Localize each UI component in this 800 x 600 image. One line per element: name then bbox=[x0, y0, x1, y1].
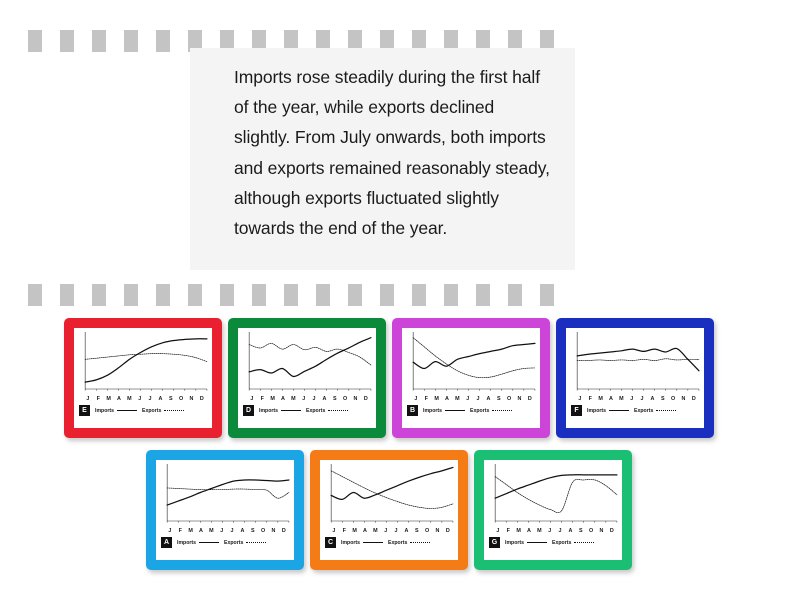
chart-axes bbox=[413, 332, 535, 389]
series-imports bbox=[495, 475, 617, 498]
legend-item-imports: Imports bbox=[505, 540, 547, 546]
month-label: N bbox=[189, 396, 195, 402]
filmstrip-sprocket bbox=[380, 284, 394, 306]
month-label: D bbox=[199, 396, 205, 402]
legend-label-exports: Exports bbox=[142, 408, 161, 414]
series-exports bbox=[495, 477, 617, 513]
month-label: O bbox=[424, 528, 430, 534]
series-exports bbox=[331, 471, 453, 509]
card-letter-badge: C bbox=[325, 537, 336, 548]
filmstrip-sprocket bbox=[348, 284, 362, 306]
card-inner-panel: JFMAMJJASONDAImportsExports bbox=[156, 460, 294, 560]
card-inner-panel: JFMAMJJASONDDImportsExports bbox=[238, 328, 376, 428]
legend-item-imports: Imports bbox=[177, 540, 219, 546]
filmstrip-sprocket bbox=[476, 284, 490, 306]
card-letter-badge: G bbox=[489, 537, 500, 548]
month-label: J bbox=[383, 528, 389, 534]
month-label: S bbox=[496, 396, 502, 402]
month-label: F bbox=[505, 528, 511, 534]
month-label: A bbox=[240, 528, 246, 534]
line-chart bbox=[566, 328, 704, 398]
month-label: M bbox=[434, 396, 440, 402]
month-label: J bbox=[137, 396, 143, 402]
series-imports bbox=[85, 339, 207, 382]
month-label: N bbox=[435, 528, 441, 534]
legend-label-exports: Exports bbox=[470, 408, 489, 414]
month-label: M bbox=[598, 396, 604, 402]
month-label: O bbox=[670, 396, 676, 402]
month-label: M bbox=[270, 396, 276, 402]
series-exports bbox=[577, 359, 699, 361]
filmstrip-sprocket bbox=[60, 284, 74, 306]
legend-swatch-solid-line bbox=[199, 542, 219, 543]
filmstrip-sprocket bbox=[412, 284, 426, 306]
month-label: A bbox=[568, 528, 574, 534]
month-label: S bbox=[250, 528, 256, 534]
month-label: M bbox=[516, 528, 522, 534]
legend-label-imports: Imports bbox=[95, 408, 114, 414]
month-label: N bbox=[271, 528, 277, 534]
month-label: M bbox=[352, 528, 358, 534]
legend-item-exports: Exports bbox=[470, 408, 512, 414]
month-label: A bbox=[158, 396, 164, 402]
month-label: A bbox=[404, 528, 410, 534]
filmstrip-sprocket bbox=[156, 284, 170, 306]
month-label: O bbox=[178, 396, 184, 402]
month-label: S bbox=[414, 528, 420, 534]
series-exports bbox=[413, 338, 535, 378]
legend-label-exports: Exports bbox=[634, 408, 653, 414]
legend-swatch-dotted-line bbox=[164, 410, 184, 411]
legend-label-exports: Exports bbox=[552, 540, 571, 546]
month-label: J bbox=[393, 528, 399, 534]
legend-item-imports: Imports bbox=[95, 408, 137, 414]
card-inner-panel: JFMAMJJASONDFImportsExports bbox=[566, 328, 704, 428]
legend-swatch-solid-line bbox=[117, 410, 137, 411]
line-chart bbox=[156, 460, 294, 530]
card-inner-panel: JFMAMJJASONDEImportsExports bbox=[74, 328, 212, 428]
filmstrip-sprocket bbox=[444, 284, 458, 306]
line-chart bbox=[320, 460, 458, 530]
month-label: F bbox=[177, 528, 183, 534]
prompt-panel: Imports rose steadily during the first h… bbox=[190, 48, 575, 270]
month-label: M bbox=[536, 528, 542, 534]
month-label: D bbox=[281, 528, 287, 534]
filmstrip-sprocket bbox=[540, 284, 554, 306]
month-label: J bbox=[167, 528, 173, 534]
month-label: D bbox=[609, 528, 615, 534]
filmstrip-sprocket bbox=[188, 284, 202, 306]
month-label: O bbox=[506, 396, 512, 402]
filmstrip-sprocket bbox=[92, 30, 106, 52]
legend-label-imports: Imports bbox=[423, 408, 442, 414]
legend-item-imports: Imports bbox=[587, 408, 629, 414]
month-label: A bbox=[444, 396, 450, 402]
legend-swatch-solid-line bbox=[445, 410, 465, 411]
chart-axes bbox=[85, 332, 207, 389]
series-imports bbox=[331, 467, 453, 499]
series-imports bbox=[249, 338, 371, 377]
month-label: A bbox=[608, 396, 614, 402]
month-label: N bbox=[517, 396, 523, 402]
legend-swatch-solid-line bbox=[527, 542, 547, 543]
card-letter-badge: F bbox=[571, 405, 582, 416]
legend-swatch-dotted-line bbox=[492, 410, 512, 411]
chart-legend: DImportsExports bbox=[238, 402, 376, 416]
month-label: J bbox=[311, 396, 317, 402]
month-label: S bbox=[578, 528, 584, 534]
month-label: F bbox=[259, 396, 265, 402]
legend-swatch-solid-line bbox=[281, 410, 301, 411]
month-label: J bbox=[229, 528, 235, 534]
activity-canvas: Imports rose steadily during the first h… bbox=[0, 0, 800, 600]
month-label: S bbox=[332, 396, 338, 402]
legend-item-exports: Exports bbox=[388, 540, 430, 546]
month-label: O bbox=[342, 396, 348, 402]
filmstrip-sprocket bbox=[28, 30, 42, 52]
month-label: D bbox=[445, 528, 451, 534]
card-inner-panel: JFMAMJJASONDGImportsExports bbox=[484, 460, 622, 560]
legend-item-exports: Exports bbox=[224, 540, 266, 546]
month-label: S bbox=[660, 396, 666, 402]
legend-swatch-solid-line bbox=[609, 410, 629, 411]
card-letter-badge: A bbox=[161, 537, 172, 548]
card-letter-badge: E bbox=[79, 405, 90, 416]
line-chart bbox=[402, 328, 540, 398]
legend-label-imports: Imports bbox=[505, 540, 524, 546]
month-label: J bbox=[629, 396, 635, 402]
answer-card-f[interactable]: JFMAMJJASONDFImportsExports bbox=[556, 318, 714, 438]
month-label: J bbox=[147, 396, 153, 402]
month-label: A bbox=[280, 396, 286, 402]
filmstrip-sprocket bbox=[252, 284, 266, 306]
chart-legend: EImportsExports bbox=[74, 402, 212, 416]
month-label: M bbox=[106, 396, 112, 402]
filmstrip-band-middle bbox=[0, 280, 800, 310]
card-row-top: JFMAMJJASONDEImportsExportsJFMAMJJASONDD… bbox=[64, 318, 714, 438]
month-label: M bbox=[372, 528, 378, 534]
chart-axes bbox=[249, 332, 371, 389]
legend-item-exports: Exports bbox=[306, 408, 348, 414]
filmstrip-sprocket bbox=[60, 30, 74, 52]
card-inner-panel: JFMAMJJASONDBImportsExports bbox=[402, 328, 540, 428]
legend-item-imports: Imports bbox=[341, 540, 383, 546]
month-label: J bbox=[413, 396, 419, 402]
answer-card-g[interactable]: JFMAMJJASONDGImportsExports bbox=[474, 450, 632, 570]
filmstrip-sprocket bbox=[28, 284, 42, 306]
answer-card-d[interactable]: JFMAMJJASONDDImportsExports bbox=[228, 318, 386, 438]
month-label: M bbox=[126, 396, 132, 402]
month-label: J bbox=[85, 396, 91, 402]
line-chart bbox=[74, 328, 212, 398]
month-label: A bbox=[198, 528, 204, 534]
chart-legend: AImportsExports bbox=[156, 534, 294, 548]
month-label: J bbox=[465, 396, 471, 402]
month-label: A bbox=[486, 396, 492, 402]
month-label: S bbox=[168, 396, 174, 402]
month-label: A bbox=[526, 528, 532, 534]
filmstrip-sprocket bbox=[284, 284, 298, 306]
month-label: J bbox=[547, 528, 553, 534]
month-label: M bbox=[188, 528, 194, 534]
chart-legend: FImportsExports bbox=[566, 402, 704, 416]
month-label: A bbox=[322, 396, 328, 402]
answer-card-b[interactable]: JFMAMJJASONDBImportsExports bbox=[392, 318, 550, 438]
legend-label-imports: Imports bbox=[587, 408, 606, 414]
month-label: M bbox=[208, 528, 214, 534]
legend-swatch-dotted-line bbox=[410, 542, 430, 543]
legend-label-imports: Imports bbox=[341, 540, 360, 546]
month-label: M bbox=[454, 396, 460, 402]
legend-item-imports: Imports bbox=[259, 408, 301, 414]
legend-swatch-dotted-line bbox=[246, 542, 266, 543]
month-label: F bbox=[95, 396, 101, 402]
month-label: A bbox=[116, 396, 122, 402]
filmstrip-sprocket bbox=[220, 284, 234, 306]
month-label: F bbox=[587, 396, 593, 402]
month-label: J bbox=[331, 528, 337, 534]
series-exports bbox=[167, 488, 289, 498]
chart-legend: GImportsExports bbox=[484, 534, 622, 548]
month-label: D bbox=[363, 396, 369, 402]
card-inner-panel: JFMAMJJASONDCImportsExports bbox=[320, 460, 458, 560]
answer-card-a[interactable]: JFMAMJJASONDAImportsExports bbox=[146, 450, 304, 570]
card-letter-badge: B bbox=[407, 405, 418, 416]
legend-label-exports: Exports bbox=[224, 540, 243, 546]
legend-label-imports: Imports bbox=[177, 540, 196, 546]
filmstrip-sprocket bbox=[92, 284, 106, 306]
answer-card-e[interactable]: JFMAMJJASONDEImportsExports bbox=[64, 318, 222, 438]
month-label: O bbox=[588, 528, 594, 534]
series-imports bbox=[167, 480, 289, 505]
series-imports bbox=[413, 343, 535, 368]
legend-label-exports: Exports bbox=[306, 408, 325, 414]
month-label: A bbox=[362, 528, 368, 534]
legend-item-imports: Imports bbox=[423, 408, 465, 414]
month-label: M bbox=[618, 396, 624, 402]
month-label: A bbox=[650, 396, 656, 402]
answer-card-c[interactable]: JFMAMJJASONDCImportsExports bbox=[310, 450, 468, 570]
chart-legend: BImportsExports bbox=[402, 402, 540, 416]
legend-label-imports: Imports bbox=[259, 408, 278, 414]
month-label: J bbox=[475, 396, 481, 402]
month-label: J bbox=[301, 396, 307, 402]
prompt-text: Imports rose steadily during the first h… bbox=[234, 62, 553, 243]
filmstrip-sprocket bbox=[124, 284, 138, 306]
month-label: J bbox=[577, 396, 583, 402]
chart-axes bbox=[167, 464, 289, 521]
month-label: J bbox=[219, 528, 225, 534]
month-label: O bbox=[260, 528, 266, 534]
filmstrip-sprocket bbox=[156, 30, 170, 52]
line-chart bbox=[238, 328, 376, 398]
series-exports bbox=[85, 354, 207, 362]
month-label: J bbox=[557, 528, 563, 534]
month-label: M bbox=[290, 396, 296, 402]
legend-label-exports: Exports bbox=[388, 540, 407, 546]
month-label: F bbox=[423, 396, 429, 402]
month-label: F bbox=[341, 528, 347, 534]
legend-item-exports: Exports bbox=[552, 540, 594, 546]
filmstrip-sprocket bbox=[124, 30, 138, 52]
legend-swatch-solid-line bbox=[363, 542, 383, 543]
month-label: N bbox=[599, 528, 605, 534]
month-label: J bbox=[639, 396, 645, 402]
month-label: D bbox=[527, 396, 533, 402]
legend-swatch-dotted-line bbox=[656, 410, 676, 411]
legend-item-exports: Exports bbox=[142, 408, 184, 414]
chart-axes bbox=[577, 332, 699, 389]
month-label: J bbox=[249, 396, 255, 402]
legend-swatch-dotted-line bbox=[328, 410, 348, 411]
filmstrip-sprocket bbox=[508, 284, 522, 306]
chart-legend: CImportsExports bbox=[320, 534, 458, 548]
month-label: J bbox=[495, 528, 501, 534]
month-label: D bbox=[691, 396, 697, 402]
legend-item-exports: Exports bbox=[634, 408, 676, 414]
line-chart bbox=[484, 460, 622, 530]
card-row-bottom: JFMAMJJASONDAImportsExportsJFMAMJJASONDC… bbox=[146, 450, 632, 570]
month-label: N bbox=[353, 396, 359, 402]
card-letter-badge: D bbox=[243, 405, 254, 416]
filmstrip-sprocket bbox=[316, 284, 330, 306]
month-label: N bbox=[681, 396, 687, 402]
legend-swatch-dotted-line bbox=[574, 542, 594, 543]
